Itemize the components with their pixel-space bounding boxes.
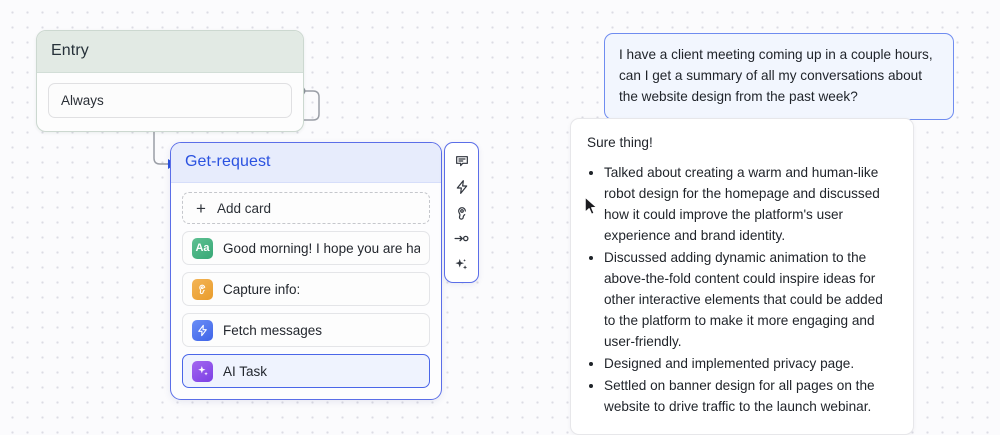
- list-item: Designed and implemented privacy page.: [604, 353, 897, 374]
- sparkles-icon: [192, 361, 213, 382]
- sparkles-icon[interactable]: [448, 253, 475, 276]
- entry-node-title: Entry: [37, 31, 303, 73]
- entry-node-body: Always: [37, 73, 303, 131]
- lightning-bolt-icon: [192, 320, 213, 341]
- list-item: Discussed adding dynamic animation to th…: [604, 247, 897, 352]
- text-aa-icon: Aa: [192, 238, 213, 259]
- card-row[interactable]: Capture info:: [182, 272, 430, 306]
- plus-icon: +: [196, 200, 206, 217]
- card-row-ai-task[interactable]: AI Task: [182, 354, 430, 388]
- entry-node[interactable]: Entry Always: [36, 30, 304, 132]
- card-label: AI Task: [223, 364, 267, 379]
- entry-condition-row[interactable]: Always: [48, 83, 292, 118]
- go-to-icon[interactable]: [448, 227, 475, 250]
- text-aa-icon-glyph: Aa: [195, 242, 209, 254]
- card-label: Fetch messages: [223, 323, 322, 338]
- card-row[interactable]: Fetch messages: [182, 313, 430, 347]
- ear-listen-icon[interactable]: [448, 201, 475, 224]
- get-request-node-title: Get-request: [171, 143, 441, 183]
- message-bubble-icon[interactable]: [448, 149, 475, 172]
- add-card-button[interactable]: + Add card: [182, 192, 430, 224]
- flow-canvas[interactable]: Entry Always Get-request + Add card Aa G…: [0, 0, 1000, 430]
- card-label: Good morning! I hope you are havi...: [223, 241, 420, 256]
- list-item: Talked about creating a warm and human-l…: [604, 162, 897, 246]
- card-label: Capture info:: [223, 282, 300, 297]
- list-item: Settled on banner design for all pages o…: [604, 375, 897, 417]
- ear-listen-icon: [192, 279, 213, 300]
- assistant-bullet-list: Talked about creating a warm and human-l…: [587, 162, 897, 417]
- card-row[interactable]: Aa Good morning! I hope you are havi...: [182, 231, 430, 265]
- get-request-node-body: + Add card Aa Good morning! I hope you a…: [171, 183, 441, 399]
- lightning-bolt-icon[interactable]: [448, 175, 475, 198]
- assistant-answer-card: Sure thing! Talked about creating a warm…: [570, 118, 914, 435]
- assistant-intro-text: Sure thing!: [587, 132, 897, 153]
- node-action-toolbar[interactable]: [444, 142, 479, 283]
- user-message-bubble: I have a client meeting coming up in a c…: [604, 33, 954, 120]
- get-request-node[interactable]: Get-request + Add card Aa Good morning! …: [170, 142, 442, 400]
- add-card-label: Add card: [217, 201, 271, 216]
